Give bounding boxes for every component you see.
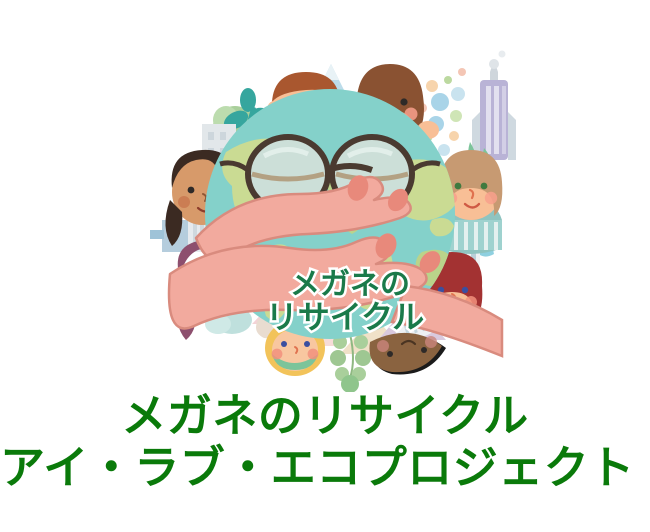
globe-label: メガネの リサイクル [266, 268, 424, 335]
caption-line-1: メガネのリサイクル [0, 392, 650, 440]
tower-right [472, 51, 516, 161]
illustration-svg: メガネの リサイクル [140, 24, 520, 392]
poster-caption: メガネのリサイクル アイ・ラブ・エコプロジェクト2023 [0, 392, 650, 491]
poster-root: メガネの リサイクル メガネのリサイクル アイ・ラブ・エコプロジェクト2023 [0, 0, 650, 532]
caption-line-2-text: アイ・ラブ・エコプロジェクト [0, 442, 635, 493]
globe-label-line2: リサイクル [266, 299, 424, 335]
child-bottom-right-brown [369, 333, 442, 372]
illustration-area: メガネの リサイクル [0, 0, 650, 392]
globe-label-line1: メガネの [290, 268, 410, 301]
earth-hands-glasses-children-illustration: メガネの リサイクル [140, 24, 520, 392]
caption-line-2: アイ・ラブ・エコプロジェクト2023 [0, 444, 650, 492]
